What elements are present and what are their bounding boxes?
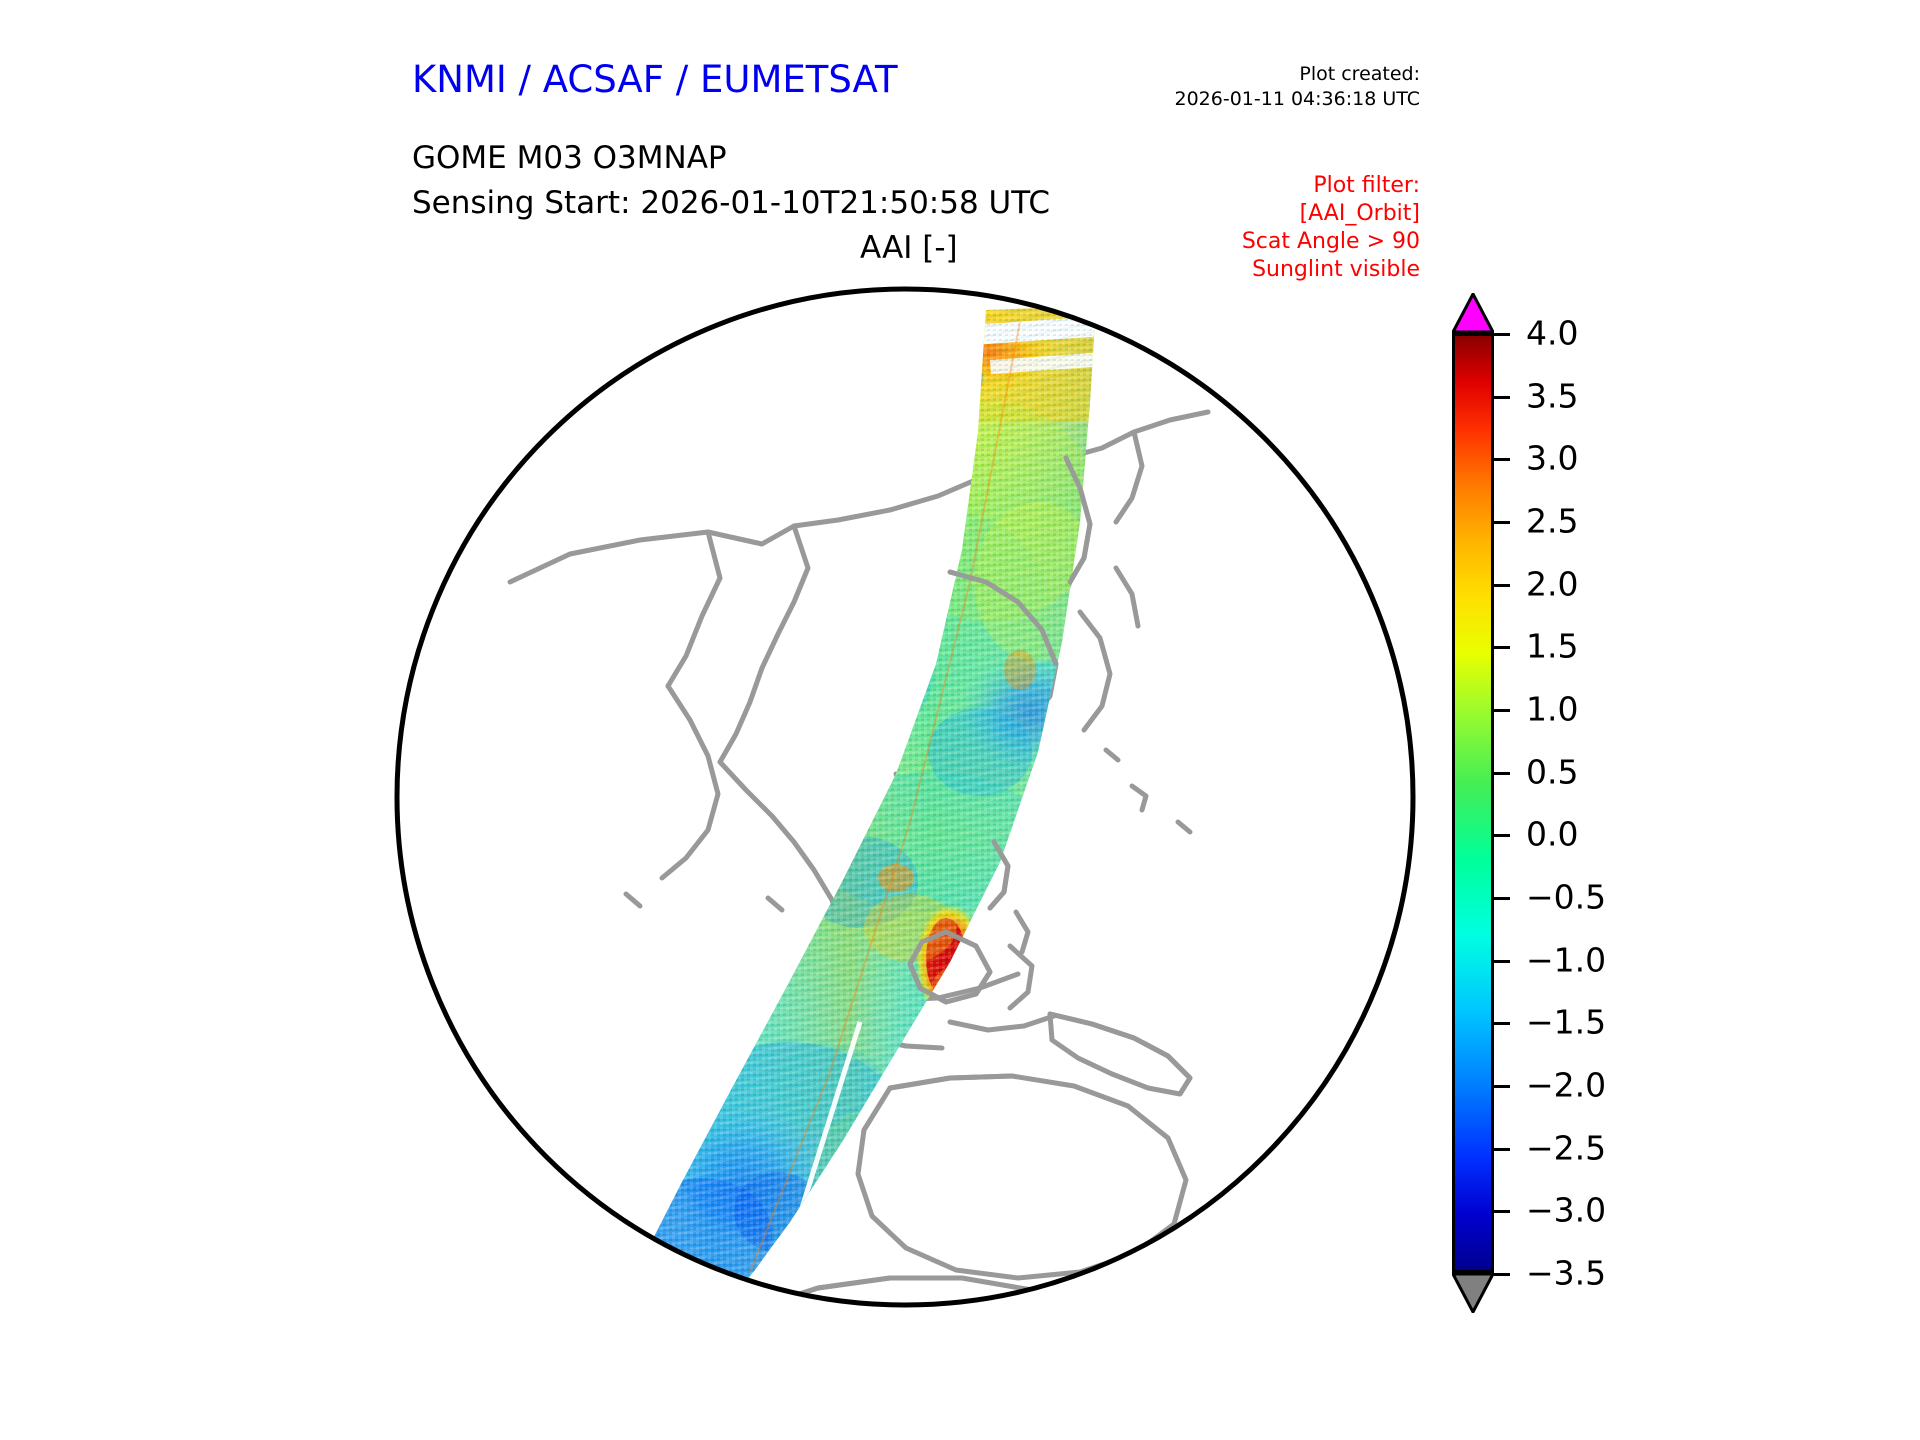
colorbar-tick xyxy=(1494,458,1510,461)
colorbar-tick-label: −0.5 xyxy=(1526,878,1606,917)
colorbar-tick-label: 1.5 xyxy=(1526,627,1578,666)
colorbar-tick-label: 3.5 xyxy=(1526,376,1578,415)
colorbar-tick xyxy=(1494,1210,1510,1213)
colorbar: 4.03.53.02.52.01.51.00.50.0−0.5−1.0−1.5−… xyxy=(1440,285,1740,1325)
colorbar-tick xyxy=(1494,960,1510,963)
colorbar-tick-label: 0.0 xyxy=(1526,815,1578,854)
colorbar-tick xyxy=(1494,897,1510,900)
colorbar-tick-label: 2.0 xyxy=(1526,564,1578,603)
colorbar-tick xyxy=(1494,1273,1510,1276)
plot-canvas: KNMI / ACSAF / EUMETSAT GOME M03 O3MNAP … xyxy=(0,0,1920,1440)
colorbar-tick-label: −3.5 xyxy=(1526,1254,1606,1293)
colorbar-tick xyxy=(1494,1148,1510,1151)
colorbar-tick xyxy=(1494,1022,1510,1025)
plot-created-block: Plot created: 2026-01-11 04:36:18 UTC xyxy=(1175,62,1421,112)
brand-title: KNMI / ACSAF / EUMETSAT xyxy=(412,58,898,101)
plot-created-timestamp: 2026-01-11 04:36:18 UTC xyxy=(1175,87,1421,112)
colorbar-tick-label: −2.0 xyxy=(1526,1066,1606,1105)
colorbar-tick-label: 3.0 xyxy=(1526,439,1578,478)
colorbar-tick xyxy=(1494,1085,1510,1088)
colorbar-gradient xyxy=(1452,333,1494,1273)
colorbar-tick-label: 4.0 xyxy=(1526,314,1578,353)
plot-filter-label: Plot filter: xyxy=(1242,172,1420,200)
plot-filter-block: Plot filter: [AAI_Orbit] Scat Angle > 90… xyxy=(1242,172,1420,284)
colorbar-tick xyxy=(1494,646,1510,649)
plot-filter-line-1: [AAI_Orbit] xyxy=(1242,200,1420,228)
sensing-start-label: Sensing Start: 2026-01-10T21:50:58 UTC xyxy=(412,185,1050,221)
plot-created-label: Plot created: xyxy=(1175,62,1421,87)
colorbar-under-arrow-outline xyxy=(1452,1273,1494,1313)
colorbar-tick-label: 2.5 xyxy=(1526,502,1578,541)
colorbar-tick-label: −1.5 xyxy=(1526,1003,1606,1042)
colorbar-tick xyxy=(1494,584,1510,587)
colorbar-tick-label: −1.0 xyxy=(1526,940,1606,979)
globe-map xyxy=(390,282,1420,1312)
globe-svg xyxy=(390,282,1420,1312)
colorbar-tick xyxy=(1494,521,1510,524)
colorbar-tick xyxy=(1494,333,1510,336)
product-title: GOME M03 O3MNAP xyxy=(412,140,727,176)
colorbar-tick xyxy=(1494,396,1510,399)
page-title: AAI [-] xyxy=(860,230,958,266)
colorbar-tick-label: 0.5 xyxy=(1526,752,1578,791)
plot-filter-line-2: Scat Angle > 90 xyxy=(1242,228,1420,256)
colorbar-tick-label: −3.0 xyxy=(1526,1191,1606,1230)
colorbar-tick xyxy=(1494,772,1510,775)
colorbar-over-arrow-outline xyxy=(1452,293,1494,333)
colorbar-tick-label: −2.5 xyxy=(1526,1128,1606,1167)
colorbar-tick xyxy=(1494,709,1510,712)
colorbar-tick-label: 1.0 xyxy=(1526,690,1578,729)
plot-filter-line-3: Sunglint visible xyxy=(1242,256,1420,284)
colorbar-tick xyxy=(1494,834,1510,837)
